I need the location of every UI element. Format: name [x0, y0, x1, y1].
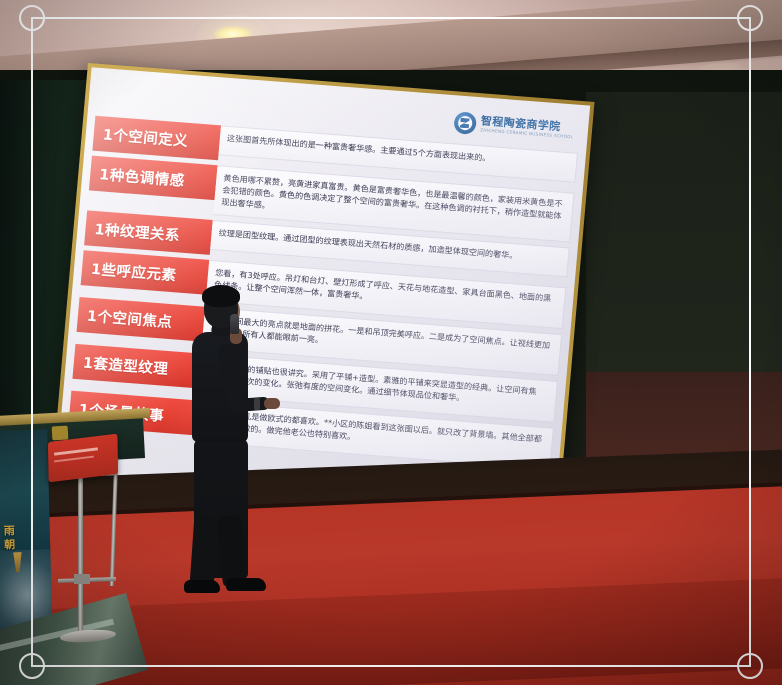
stool-backrest: [110, 458, 118, 586]
presenter-shoe-back: [184, 580, 220, 593]
school-logo: 智程陶瓷商学院 ZHICHENG CERAMIC BUSINESS SCHOOL: [453, 111, 575, 142]
stage-photo-scene: 智程陶瓷商学院 ZHICHENG CERAMIC BUSINESS SCHOOL…: [0, 0, 782, 685]
slide-row-tag: 1种色调情感: [89, 156, 218, 201]
presenter-figure: [168, 288, 278, 633]
presenter-leg-back: [190, 515, 219, 587]
poster-character: 朝: [4, 536, 15, 552]
school-logo-text: 智程陶瓷商学院 ZHICHENG CERAMIC BUSINESS SCHOOL: [480, 116, 575, 140]
slide-row-tag: 1个空间定义: [92, 116, 221, 161]
bar-stool: [38, 438, 124, 638]
slide-row-tag: 1种纹理关系: [84, 210, 213, 255]
microphone-icon: [230, 314, 239, 334]
stool-bracket: [74, 574, 90, 584]
presenter-wristwatch: [254, 398, 260, 410]
presenter-pointing-hand: [264, 398, 280, 409]
presenter-shoe-front: [226, 578, 266, 591]
stool-post: [78, 472, 83, 638]
presenter-hair: [202, 285, 240, 307]
slide-row-list: 1个空间定义 这张图首先所体现出的是一种富贵奢华感。主要通过5个方面表现出来的。…: [67, 116, 578, 475]
school-logo-mark-icon: [453, 111, 477, 135]
